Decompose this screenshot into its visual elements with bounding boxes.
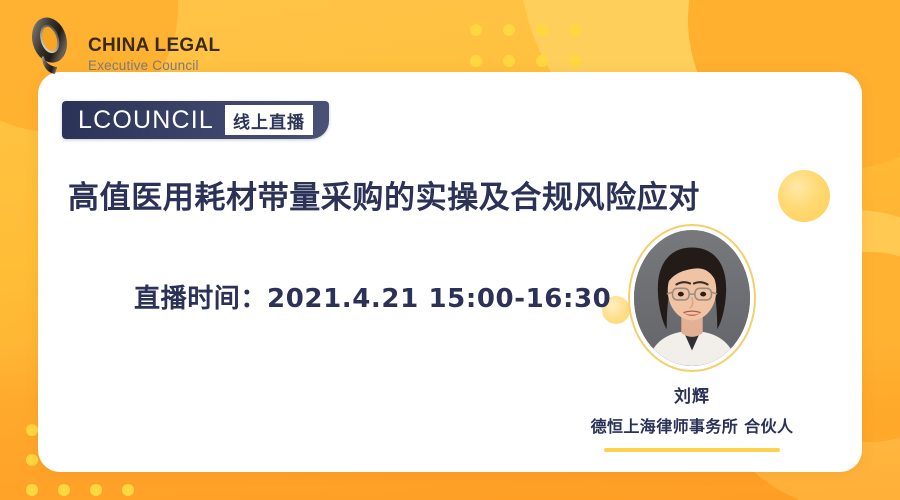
webinar-poster: 高值医用耗材带量采购的实操及合规风险应对 直播时间：2021.4.21 15:0… [0,0,900,500]
badge-live-tag: 线上直播 [225,105,313,135]
avatar [634,230,750,366]
speaker-name: 刘辉 [674,382,710,407]
brand-title: CHINA LEGAL [88,36,220,55]
speaker-underline [604,448,780,452]
broadcast-time: 直播时间：2021.4.21 15:00-16:30 [134,278,611,315]
brand-subtitle: Executive Council [88,59,220,73]
lcouncil-badge: LCOUNCIL 线上直播 [62,101,329,139]
speaker-organization: 德恒上海律师事务所 合伙人 [591,413,794,437]
speaker-block: 刘辉 德恒上海律师事务所 合伙人 [558,224,826,452]
decor-dot [470,24,482,36]
badge-brand-label: LCOUNCIL [62,101,225,139]
china-legal-ring-logo-icon [22,14,78,76]
avatar-ring [628,224,756,372]
decor-dot [536,55,548,67]
dot-grid-top [470,24,581,67]
decor-dot [470,55,482,67]
brand-header: CHINA LEGAL Executive Council [22,14,220,76]
decor-dot [569,55,581,67]
page-title: 高值医用耗材带量采购的实操及合规风险应对 [68,172,788,217]
decor-dot [569,24,581,36]
decor-dot [503,24,515,36]
decor-dot [503,55,515,67]
decor-dot [536,24,548,36]
